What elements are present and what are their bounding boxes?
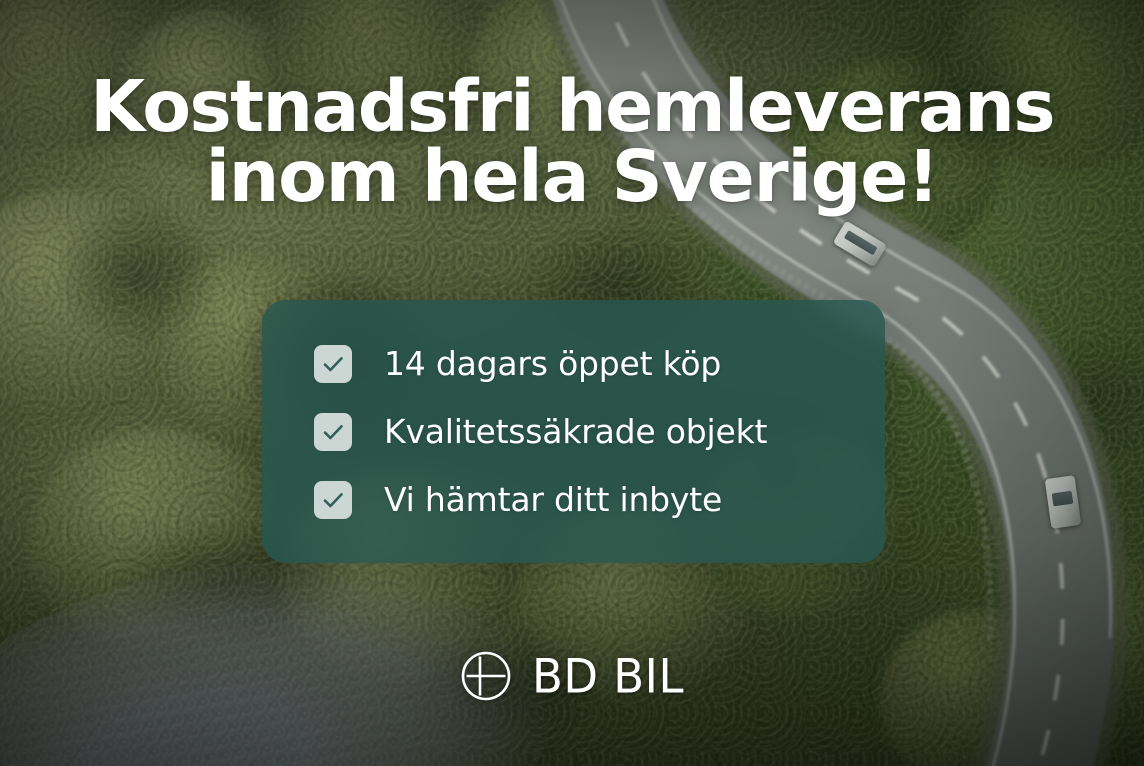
brand-name: BD BIL: [532, 653, 684, 700]
bd-bil-circle-monogram-icon: [460, 650, 512, 702]
headline: Kostnadsfri hemleverans inom hela Sverig…: [0, 72, 1144, 213]
banner-content: Kostnadsfri hemleverans inom hela Sverig…: [0, 0, 1144, 766]
feature-item: Kvalitetssäkrade objekt: [314, 413, 885, 451]
feature-item: Vi hämtar ditt inbyte: [314, 481, 885, 519]
feature-label: Kvalitetssäkrade objekt: [384, 415, 767, 448]
promo-banner: Kostnadsfri hemleverans inom hela Sverig…: [0, 0, 1144, 766]
feature-item: 14 dagars öppet köp: [314, 345, 885, 383]
check-icon: [321, 352, 345, 376]
check-icon: [321, 420, 345, 444]
checkbox-checked[interactable]: [314, 413, 352, 451]
headline-line-1: Kostnadsfri hemleverans: [56, 72, 1088, 142]
brand-lockup[interactable]: BD BIL: [0, 650, 1144, 702]
feature-label: 14 dagars öppet köp: [384, 347, 721, 380]
check-icon: [321, 488, 345, 512]
headline-line-2: inom hela Sverige!: [56, 142, 1088, 212]
feature-label: Vi hämtar ditt inbyte: [384, 483, 722, 516]
checkbox-checked[interactable]: [314, 481, 352, 519]
checkbox-checked[interactable]: [314, 345, 352, 383]
features-card: 14 dagars öppet köp Kvalitetssäkrade obj…: [262, 300, 885, 563]
